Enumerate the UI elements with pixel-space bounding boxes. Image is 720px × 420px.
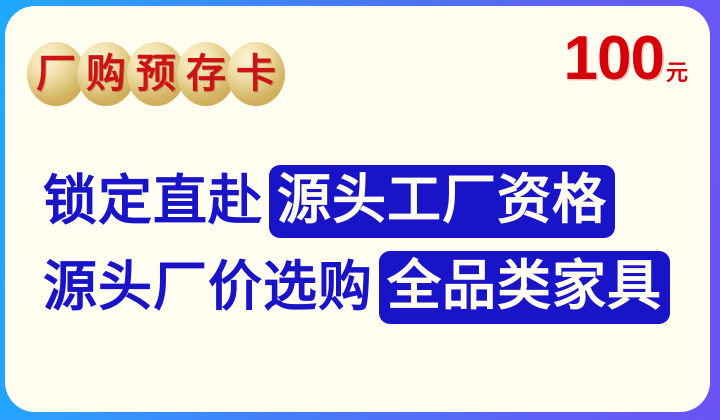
headline-line-2: 源头厂价选购 全品类家具 (5, 244, 710, 330)
headline-highlight-box: 全品类家具 (379, 251, 670, 324)
badge-char-circle: 卡 (227, 42, 285, 106)
headline-plain-text: 锁定直赴 (43, 174, 263, 228)
promo-banner: 厂 购 预 存 卡 100 元 (0, 0, 720, 420)
price-currency-unit: 元 (666, 62, 688, 84)
headline-block: 锁定直赴 源头工厂资格 源头厂价选购 全品类家具 (5, 158, 710, 330)
badge-char-text: 购 (86, 54, 126, 94)
headline-highlight-box: 源头工厂资格 (269, 165, 615, 238)
prepaid-card-badge: 厂 购 预 存 卡 (27, 42, 277, 106)
badge-char-text: 卡 (236, 54, 276, 94)
headline-plain-text: 源头厂价选购 (43, 260, 373, 314)
price-block: 100 元 (564, 30, 688, 87)
promo-card: 厂 购 预 存 卡 100 元 (5, 6, 710, 412)
badge-char-text: 存 (186, 54, 226, 94)
card-top-row: 厂 购 预 存 卡 100 元 (5, 6, 710, 136)
badge-char-text: 厂 (36, 54, 76, 94)
price-amount: 100 (564, 30, 664, 87)
badge-char-text: 预 (136, 54, 176, 94)
headline-line-1: 锁定直赴 源头工厂资格 (5, 158, 710, 244)
